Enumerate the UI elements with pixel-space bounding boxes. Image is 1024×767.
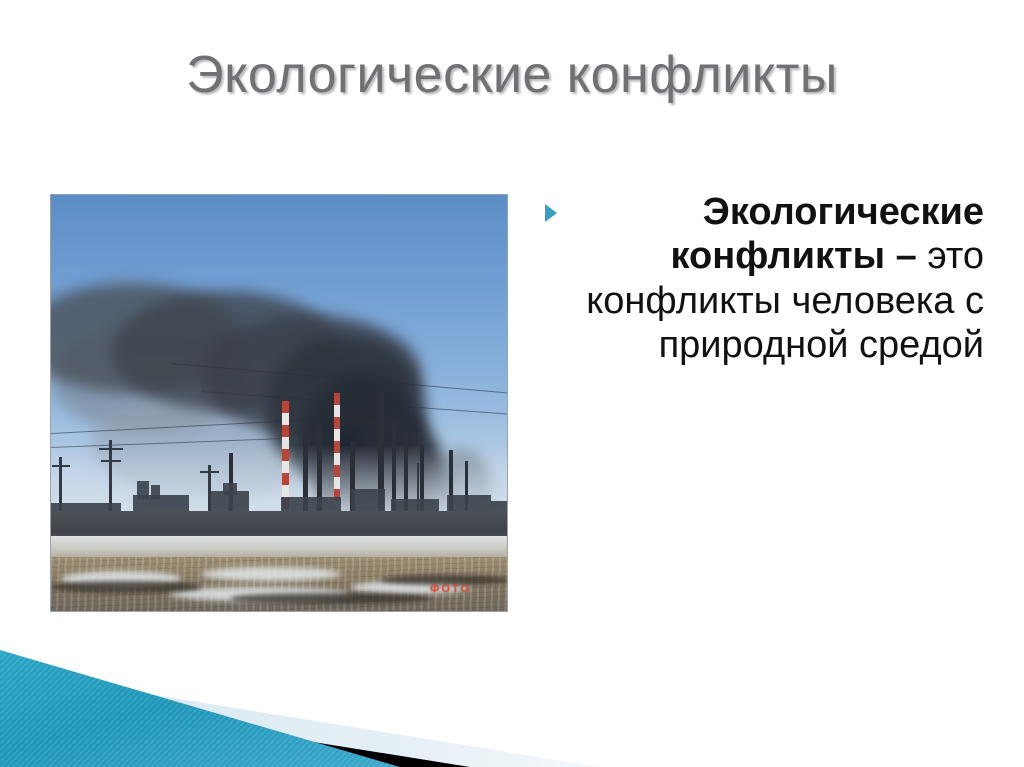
content-placeholder: Экологические конфликты – это конфликты …	[534, 190, 984, 368]
photo-watermark: ФОТО	[430, 583, 471, 595]
teal-triangle-texture	[0, 650, 400, 767]
bullet-text: Экологические конфликты – это конфликты …	[556, 190, 984, 368]
snow-patch	[201, 567, 341, 581]
mud-patch	[51, 581, 201, 593]
slide: Экологические конфликты	[0, 0, 1024, 767]
factory-building	[223, 483, 237, 495]
pylon-arm	[52, 465, 70, 467]
triangle-right-bullet-icon	[534, 190, 552, 230]
bullet-list-item: Экологические конфликты – это конфликты …	[534, 190, 984, 368]
factory-building	[137, 481, 149, 499]
industrial-photo: ФОТО	[51, 195, 507, 611]
pylon-arm	[101, 460, 121, 462]
footer-decoration	[0, 630, 1024, 767]
mud-patch	[231, 593, 431, 604]
content-image: ФОТО	[50, 194, 508, 612]
factory-building	[151, 485, 160, 499]
page-title: Экологические конфликты	[0, 46, 1024, 104]
pylon-arm	[200, 471, 219, 473]
pylon-arm	[99, 448, 123, 450]
